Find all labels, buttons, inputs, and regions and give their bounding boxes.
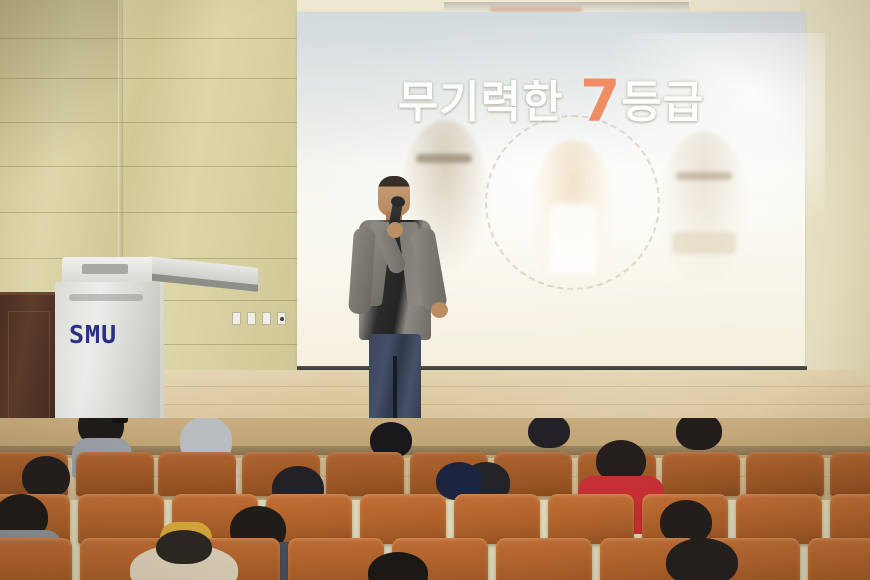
slide-highlight-number: 7	[580, 67, 621, 135]
slide-figure-right	[660, 132, 748, 282]
audience-area	[0, 418, 870, 580]
ceiling-light-strip	[444, 2, 689, 11]
podium-logo-smu: SMU	[69, 320, 117, 349]
list-item	[666, 538, 738, 580]
presenter-legs	[369, 334, 421, 424]
list-item	[22, 456, 70, 498]
slide-figure-center	[530, 140, 616, 292]
list-item[interactable]	[158, 452, 236, 496]
list-item	[156, 530, 212, 564]
list-item	[676, 418, 722, 450]
podium-monitor-top	[62, 257, 152, 284]
list-item[interactable]	[76, 452, 154, 496]
list-item[interactable]	[0, 538, 72, 580]
list-item[interactable]	[830, 494, 870, 544]
slide-headline: 무기력한 7등급	[297, 66, 805, 135]
list-item[interactable]	[736, 494, 822, 544]
list-item[interactable]	[78, 494, 164, 544]
list-item[interactable]	[360, 494, 446, 544]
wall-shadow	[0, 0, 120, 260]
eyeglasses-icon	[112, 418, 128, 423]
list-item[interactable]	[454, 494, 540, 544]
slide-text-after: 등급	[621, 77, 704, 128]
list-item[interactable]	[662, 452, 740, 496]
list-item	[528, 418, 570, 448]
presenter-right-hand	[431, 302, 448, 318]
list-item[interactable]	[326, 452, 404, 496]
slide-figure-hands	[672, 232, 736, 254]
auditorium-photo: 무기력한 7등급 SMU	[0, 0, 870, 580]
presenter-figure	[345, 176, 445, 436]
list-item[interactable]	[496, 538, 592, 580]
presenter-left-hand	[387, 222, 403, 238]
slide-text-before: 무기력한	[398, 77, 564, 128]
wooden-cabinet	[0, 292, 58, 437]
list-item[interactable]	[548, 494, 634, 544]
list-item[interactable]	[808, 538, 870, 580]
list-item[interactable]	[746, 452, 824, 496]
list-item[interactable]	[830, 452, 870, 496]
